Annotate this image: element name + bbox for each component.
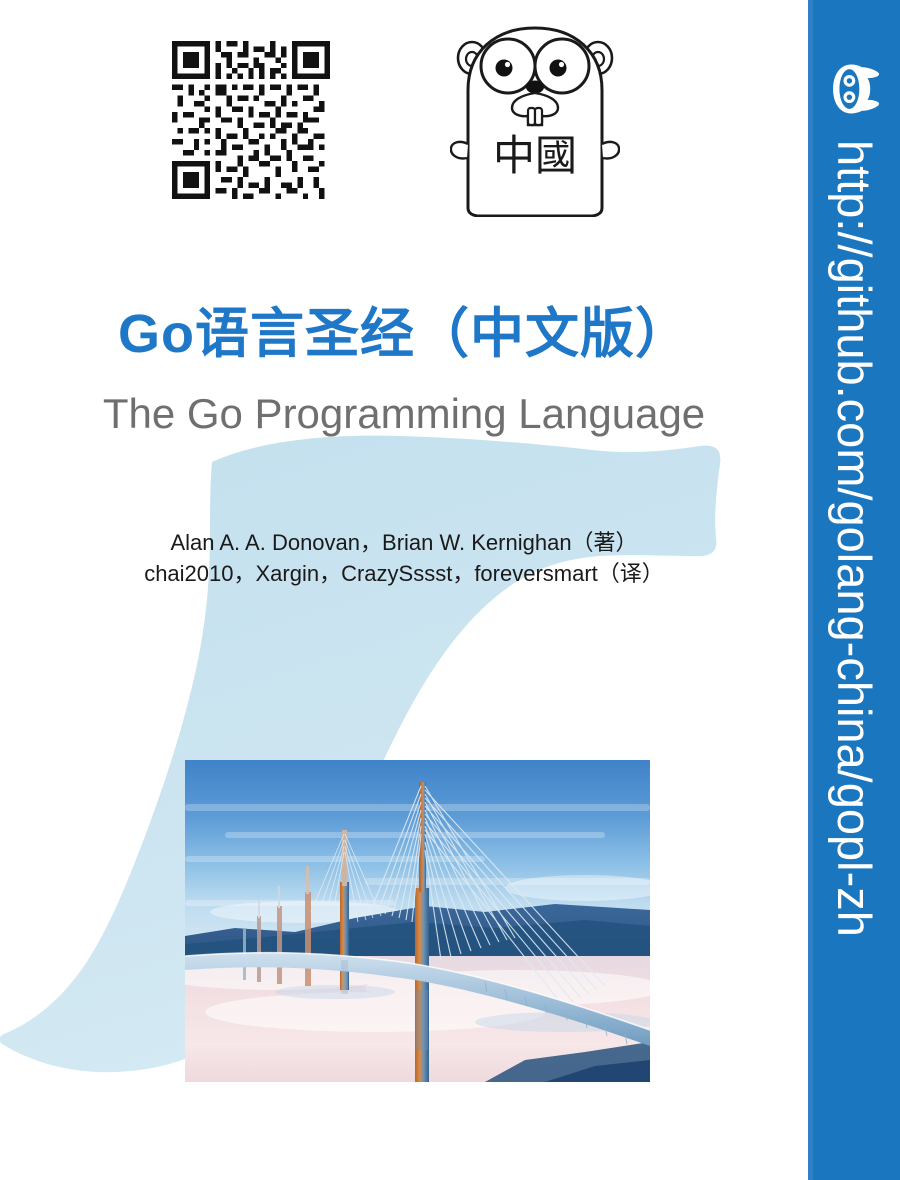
qr-code[interactable]: [172, 28, 330, 212]
translators-line: chai2010，Xargin，CrazySssst，foreversmart（…: [0, 558, 808, 589]
credits-block: Alan A. A. Donovan，Brian W. Kernighan（著）…: [0, 527, 808, 589]
go-gopher-mascot: 中國: [450, 22, 620, 217]
gopher-belly-text: 中國: [493, 131, 577, 180]
github-octocat-icon[interactable]: [822, 60, 884, 118]
page-subtitle-english: The Go Programming Language: [0, 390, 808, 438]
millau-viaduct-bridge-photo: [185, 760, 650, 1082]
book-cover: 中國 Go语言圣经（中文版） The Go Programming Langua…: [0, 0, 900, 1180]
authors-line: Alan A. A. Donovan，Brian W. Kernighan（著）: [0, 527, 808, 558]
page-title-chinese: Go语言圣经（中文版）: [0, 303, 808, 367]
project-url[interactable]: http://github.com/golang-china/gopl-zh: [808, 140, 900, 1140]
